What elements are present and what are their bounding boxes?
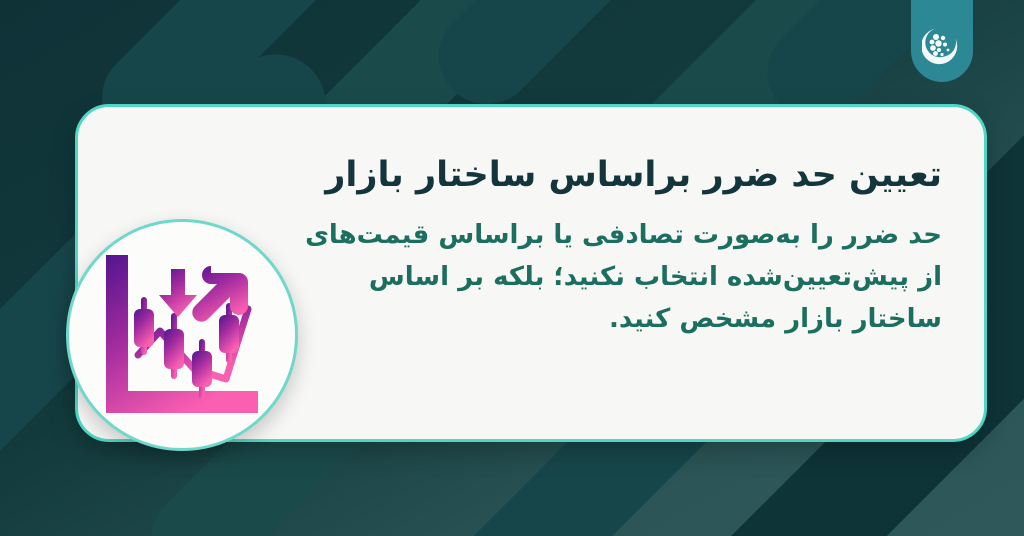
card-text-block: تعیین حد ضرر براساس ساختار بازار حد ضرر … xyxy=(302,153,942,340)
page-title: تعیین حد ضرر براساس ساختار بازار xyxy=(302,153,942,198)
icon-badge xyxy=(66,219,298,451)
brand-logo-tab[interactable] xyxy=(911,0,973,82)
brand-logo-icon xyxy=(922,26,962,66)
card-body-text: حد ضرر را به‌صورت تصادفی یا براساس قیمت‌… xyxy=(302,214,942,340)
candlestick-chart-icon xyxy=(98,251,266,419)
slide-canvas: تعیین حد ضرر براساس ساختار بازار حد ضرر … xyxy=(0,0,1024,536)
